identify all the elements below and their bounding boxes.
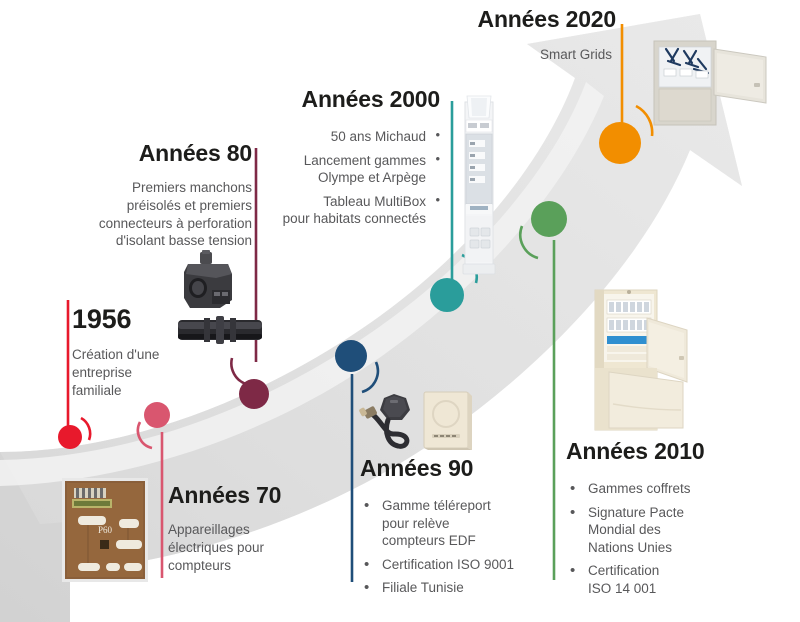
milestone-year-annees-70: Années 70 (168, 482, 343, 508)
bullet-item: 50 ans Michaud (258, 128, 440, 146)
bullet-item: Tableau MultiBox pour habitats connectés (258, 193, 440, 228)
description-line: préisolés et premiers (62, 197, 252, 215)
product-image-coffret-smart-grid (648, 35, 768, 131)
milestone-bullets-annees-2010: Gammes coffrets Signature Pacte Mondial … (566, 480, 766, 597)
milestone-dot-annees-80[interactable] (239, 379, 269, 409)
milestone-block-annees-2020: Années 2020 Smart Grids (430, 6, 616, 64)
description-line: électriques pour (168, 539, 343, 557)
milestone-block-annees-2000: Années 2000 50 ans Michaud Lancement gam… (258, 86, 440, 234)
milestone-year-annees-2020: Années 2020 (430, 6, 616, 32)
milestone-bullets-annees-90: Gamme téléreport pour relève compteurs E… (360, 497, 550, 597)
milestone-block-annees-2010: Années 2010 Gammes coffrets Signature Pa… (566, 438, 766, 603)
bullet-line: Tableau MultiBox (258, 193, 426, 211)
description-line: Appareillages (168, 521, 343, 539)
product-image-panneau-compteur-p60: P60 (62, 478, 148, 582)
milestone-dot-1956[interactable] (58, 425, 82, 449)
bullet-item: Gamme téléreport pour relève compteurs E… (360, 497, 550, 550)
product-image-teleport-boitier (358, 388, 474, 462)
description-line: connecteurs à perforation (62, 215, 252, 233)
milestone-year-annees-90: Années 90 (360, 455, 550, 481)
bullet-item: Certification ISO 14 001 (566, 562, 766, 597)
description-line: Premiers manchons (62, 179, 252, 197)
milestone-note-annees-2020: Smart Grids (430, 46, 616, 64)
bullet-line: compteurs EDF (382, 532, 550, 550)
bullet-item: Signature Pacte Mondial des Nations Unie… (566, 504, 766, 557)
bullet-line: Gammes coffrets (588, 480, 766, 498)
milestone-block-1956: 1956 Création d'une entreprise familiale (72, 304, 222, 399)
description-line: compteurs (168, 557, 343, 575)
bullet-line: Certification (588, 562, 766, 580)
bullet-item: Lancement gammes Olympe et Arpège (258, 152, 440, 187)
timeline-infographic: P60 (0, 0, 800, 622)
bullet-item: Filiale Tunisie (360, 579, 550, 597)
description-line: Création d'une (72, 346, 222, 364)
milestone-description-annees-80: Premiers manchons préisolés et premiers … (62, 179, 252, 250)
description-line: familiale (72, 382, 222, 400)
bullet-line: Signature Pacte (588, 504, 766, 522)
milestone-dot-annees-2010[interactable] (531, 201, 567, 237)
milestone-block-annees-70: Années 70 Appareillages électriques pour… (168, 482, 343, 574)
milestone-description-annees-70: Appareillages électriques pour compteurs (168, 521, 343, 574)
bullet-line: Gamme téléreport (382, 497, 550, 515)
bullet-line: Olympe et Arpège (258, 169, 426, 187)
description-line: d'isolant basse tension (62, 232, 252, 250)
bullet-line: Filiale Tunisie (382, 579, 550, 597)
milestone-bullets-annees-2000: 50 ans Michaud Lancement gammes Olympe e… (258, 128, 440, 228)
bullet-line: pour relève (382, 515, 550, 533)
bullet-item: Gammes coffrets (566, 480, 766, 498)
description-line: entreprise (72, 364, 222, 382)
milestone-block-annees-80: Années 80 Premiers manchons préisolés et… (62, 140, 252, 250)
bullet-line: Lancement gammes (258, 152, 426, 170)
milestone-dot-annees-90[interactable] (335, 340, 367, 372)
svg-text:P60: P60 (98, 525, 113, 535)
bullet-line: Nations Unies (588, 539, 766, 557)
bullet-line: Certification ISO 9001 (382, 556, 550, 574)
milestone-dot-annees-2020[interactable] (599, 122, 641, 164)
bullet-line: pour habitats connectés (258, 210, 426, 228)
milestone-year-1956: 1956 (72, 304, 222, 334)
bullet-line: ISO 14 001 (588, 580, 766, 598)
milestone-block-annees-90: Années 90 Gamme téléreport pour relève c… (360, 455, 550, 603)
milestone-description-1956: Création d'une entreprise familiale (72, 346, 222, 399)
product-image-tableau-multibox (457, 92, 503, 278)
milestone-year-annees-2010: Années 2010 (566, 438, 766, 464)
milestone-dot-annees-2000[interactable] (430, 278, 464, 312)
milestone-dot-annees-70[interactable] (144, 402, 170, 428)
bullet-line: 50 ans Michaud (258, 128, 426, 146)
milestone-year-annees-80: Années 80 (62, 140, 252, 166)
milestone-year-annees-2000: Années 2000 (258, 86, 440, 112)
bullet-line: Mondial des (588, 521, 766, 539)
bullet-item: Certification ISO 9001 (360, 556, 550, 574)
product-image-coffret-electrique-beige (583, 286, 689, 434)
